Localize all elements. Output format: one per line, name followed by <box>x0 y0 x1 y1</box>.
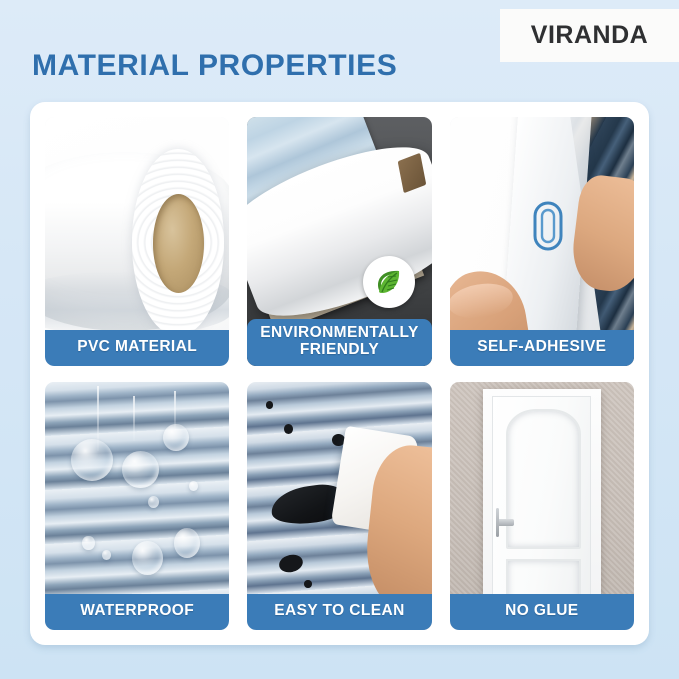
feature-card: PVC MATERIAL ENVIRONMENTALLY <box>30 102 649 645</box>
striped-surface <box>45 382 229 631</box>
water-droplet <box>189 481 198 491</box>
black-stain <box>284 424 293 434</box>
door-frame <box>483 389 601 618</box>
water-droplet <box>71 439 113 481</box>
feature-tile-easy-to-clean[interactable]: EASY TO CLEAN <box>247 382 431 631</box>
door-panel-upper <box>506 409 581 549</box>
water-droplet <box>163 424 189 451</box>
leaf-icon <box>372 265 406 299</box>
easy-to-clean-image <box>247 382 431 631</box>
feature-label-environmentally-friendly: ENVIRONMENTALLY FRIENDLY <box>247 319 431 365</box>
waterproof-image <box>45 382 229 631</box>
eco-leaf-badge <box>363 256 415 308</box>
self-adhesive-image <box>450 117 634 366</box>
feature-label-self-adhesive: SELF-ADHESIVE <box>450 330 634 366</box>
water-streak <box>133 396 135 441</box>
pvc-roll-image <box>45 117 229 366</box>
black-stain <box>266 401 273 408</box>
feature-tile-self-adhesive[interactable]: SELF-ADHESIVE <box>450 117 634 366</box>
door-slab <box>492 396 591 615</box>
brand-name: VIRANDA <box>531 21 648 50</box>
paperclip-icon <box>531 199 565 253</box>
feature-tile-waterproof[interactable]: WATERPROOF <box>45 382 229 631</box>
feature-label-line-2: FRIENDLY <box>300 341 379 358</box>
water-droplet <box>82 536 95 551</box>
feature-label-easy-to-clean: EASY TO CLEAN <box>247 594 431 630</box>
feature-tile-no-glue[interactable]: NO GLUE <box>450 382 634 631</box>
door-handle <box>497 519 514 526</box>
brand-badge: VIRANDA <box>500 9 679 62</box>
water-droplet <box>174 528 200 558</box>
feature-label-line-1: ENVIRONMENTALLY <box>260 324 418 341</box>
feature-tile-environmentally-friendly[interactable]: ENVIRONMENTALLY FRIENDLY <box>247 117 431 366</box>
feature-label-no-glue: NO GLUE <box>450 594 634 630</box>
page-title: MATERIAL PROPERTIES <box>32 49 397 83</box>
feature-label-pvc-material: PVC MATERIAL <box>45 330 229 366</box>
feature-tile-pvc-material[interactable]: PVC MATERIAL <box>45 117 229 366</box>
black-stain <box>304 580 311 587</box>
feature-label-waterproof: WATERPROOF <box>45 594 229 630</box>
no-glue-image <box>450 382 634 631</box>
feature-grid: PVC MATERIAL ENVIRONMENTALLY <box>45 117 634 630</box>
water-droplet <box>132 541 163 576</box>
